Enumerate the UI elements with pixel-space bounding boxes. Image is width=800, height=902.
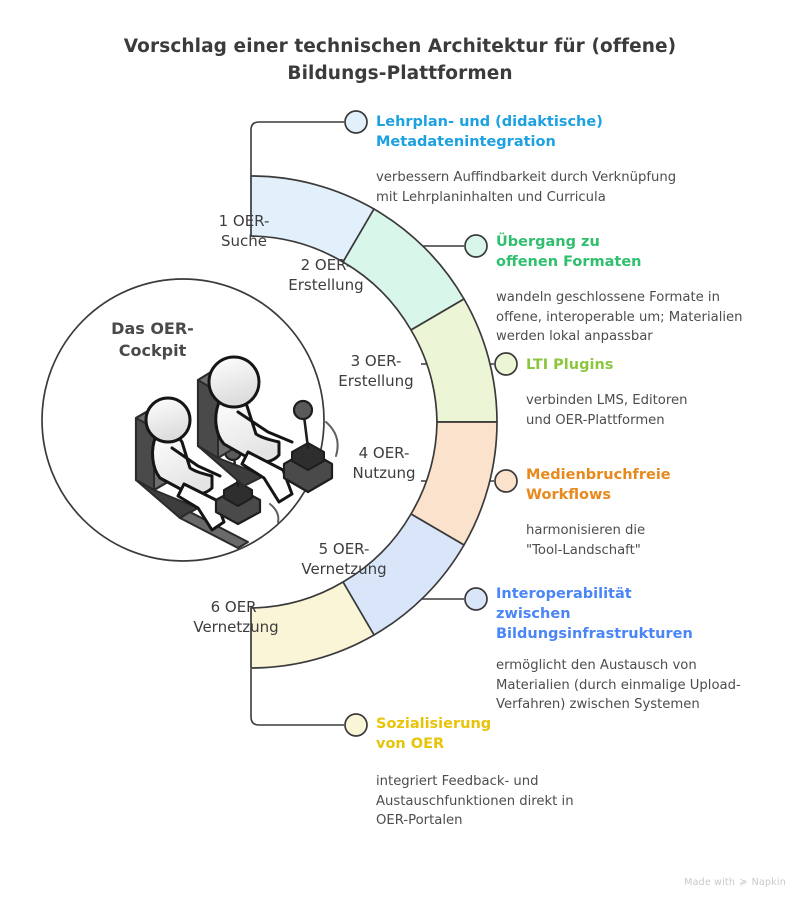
callout-5-title: Interoperabilität zwischen Bildungsinfra…	[496, 584, 788, 644]
callout-marker-3[interactable]	[495, 353, 517, 375]
center-hub-label: Das OER- Cockpit	[70, 318, 235, 363]
callout-marker-2[interactable]	[465, 235, 487, 257]
pilot-right-head	[209, 357, 259, 407]
callout-6-description: integriert Feedback- und Austauschfunkti…	[376, 772, 676, 831]
callout-marker-6[interactable]	[345, 714, 367, 736]
callout-6: Sozialisierung von OER integriert Feedba…	[376, 714, 676, 831]
callout-marker-4[interactable]	[495, 470, 517, 492]
callout-2: Übergang zu offenen Formaten wandeln ges…	[496, 232, 786, 347]
connector-1	[251, 122, 344, 176]
callout-3-title: LTI Plugins	[526, 355, 786, 375]
callout-2-description: wandeln geschlossene Formate in offene, …	[496, 288, 786, 347]
callout-3: LTI Plugins verbinden LMS, Editoren und …	[526, 355, 786, 430]
callout-4-title: Medienbruchfreie Workflows	[526, 465, 786, 505]
callout-marker-5[interactable]	[465, 588, 487, 610]
callout-5-description: ermöglicht den Austausch von Materialien…	[496, 656, 788, 715]
napkin-watermark: Made with ≽ Napkin	[684, 877, 786, 888]
callout-5: Interoperabilität zwischen Bildungsinfra…	[496, 584, 788, 715]
callout-4-description: harmonisieren die "Tool-Landschaft"	[526, 521, 786, 560]
napkin-logo-icon: ≽	[739, 878, 748, 888]
watermark-brand: Napkin	[752, 877, 786, 888]
pilot-left-head	[146, 398, 190, 442]
callout-2-title: Übergang zu offenen Formaten	[496, 232, 786, 272]
callout-3-description: verbinden LMS, Editoren und OER-Plattfor…	[526, 391, 786, 430]
watermark-text: Made with	[684, 877, 735, 888]
diagram-page: Vorschlag einer technischen Architektur …	[0, 0, 800, 902]
callout-1-title: Lehrplan- und (didaktische) Metadatenint…	[376, 112, 726, 152]
connector-6	[251, 669, 344, 725]
callout-1: Lehrplan- und (didaktische) Metadatenint…	[376, 112, 726, 207]
callout-1-description: verbessern Auffindbarkeit durch Verknüpf…	[376, 168, 726, 207]
callout-6-title: Sozialisierung von OER	[376, 714, 676, 754]
callout-4: Medienbruchfreie Workflows harmonisieren…	[526, 465, 786, 560]
callout-marker-1[interactable]	[345, 111, 367, 133]
